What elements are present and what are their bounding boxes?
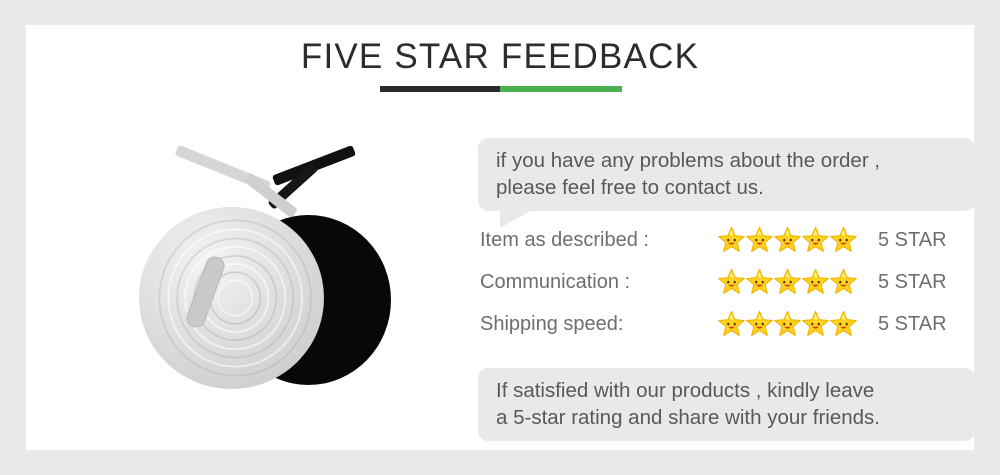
star-icon [802, 310, 829, 337]
rating-stars[interactable] [718, 268, 857, 295]
rating-row: Item as described :5 STAR [478, 223, 975, 265]
title-underline-dark [380, 86, 500, 92]
rating-stars[interactable] [718, 226, 857, 253]
rating-label: Item as described : [480, 229, 649, 252]
page-title: FIVE STAR FEEDBACK [26, 35, 974, 79]
contact-message-line-2: please feel free to contact us. [496, 174, 957, 201]
rating-request-line-2: a 5-star rating and share with your frie… [496, 404, 957, 431]
star-icon [746, 310, 773, 337]
title-underline [380, 86, 622, 92]
rating-stars[interactable] [718, 310, 857, 337]
header: FIVE STAR FEEDBACK [26, 35, 974, 79]
star-icon [718, 268, 745, 295]
star-icon [718, 226, 745, 253]
rating-value: 5 STAR [878, 229, 947, 252]
banner-card: FIVE STAR FEEDBACK if you have any probl… [26, 25, 974, 450]
star-icon [830, 226, 857, 253]
title-underline-green [500, 86, 622, 92]
star-icon [774, 226, 801, 253]
rating-label: Shipping speed: [480, 313, 623, 336]
product-image-shoelaces [111, 135, 441, 400]
rating-value: 5 STAR [878, 313, 947, 336]
star-icon [746, 226, 773, 253]
star-icon [746, 268, 773, 295]
rating-row: Communication :5 STAR [478, 265, 975, 307]
star-icon [718, 310, 745, 337]
rating-value: 5 STAR [878, 271, 947, 294]
star-icon [774, 310, 801, 337]
star-icon [802, 226, 829, 253]
white-lace-coil [139, 207, 324, 389]
star-icon [802, 268, 829, 295]
star-icon [830, 268, 857, 295]
contact-message-bubble: if you have any problems about the order… [478, 138, 975, 211]
contact-message-line-1: if you have any problems about the order… [496, 147, 957, 174]
rating-request-bubble: If satisfied with our products , kindly … [478, 368, 975, 441]
rating-row: Shipping speed:5 STAR [478, 307, 975, 349]
feedback-banner: FIVE STAR FEEDBACK if you have any probl… [0, 0, 1000, 475]
star-icon [774, 268, 801, 295]
ratings-list: Item as described :5 STARCommunication :… [478, 223, 975, 349]
rating-label: Communication : [480, 271, 630, 294]
star-icon [830, 310, 857, 337]
rating-request-line-1: If satisfied with our products , kindly … [496, 377, 957, 404]
